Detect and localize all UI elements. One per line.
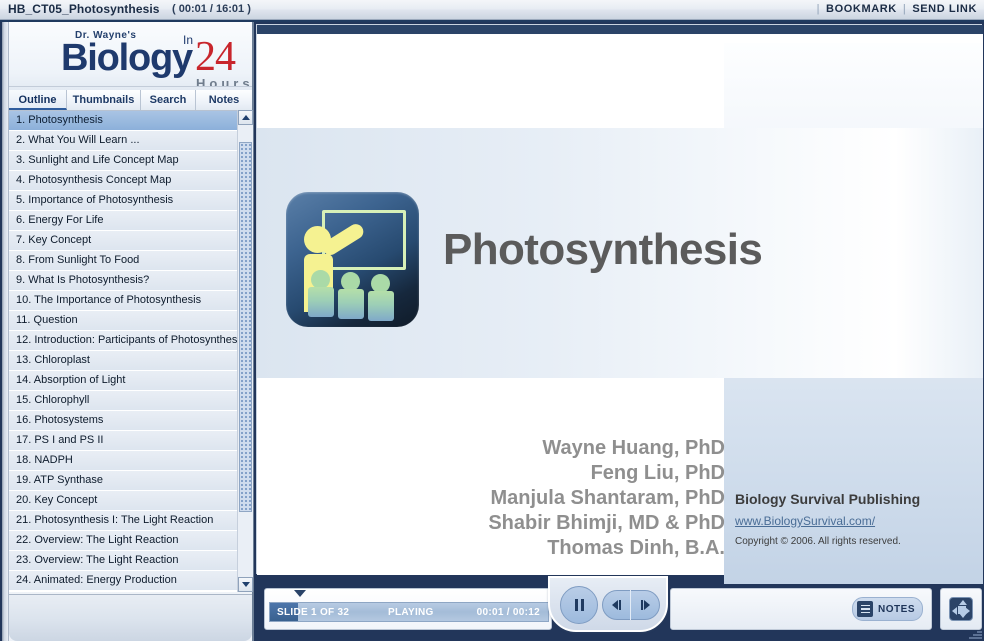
outline-item[interactable]: 12. Introduction: Participants of Photos… bbox=[9, 331, 237, 351]
notes-button[interactable]: NOTES bbox=[852, 597, 923, 621]
slide-counter-label: SLIDE 1 OF 32 bbox=[277, 603, 349, 622]
scroll-up-button[interactable] bbox=[238, 110, 253, 125]
transport-controls bbox=[548, 576, 668, 632]
resize-grip[interactable] bbox=[968, 627, 982, 639]
left-panel-footer bbox=[9, 594, 252, 641]
presentation-title: HB_CT05_Photosynthesis bbox=[8, 2, 160, 16]
author-name: Feng Liu, PhD bbox=[285, 461, 725, 486]
student-body-icon-2 bbox=[338, 289, 364, 319]
author-name: Manjula Shantaram, PhD bbox=[285, 486, 725, 511]
copyright-notice: Copyright © 2006. All rights reserved. bbox=[735, 536, 975, 547]
chevron-down-icon bbox=[242, 582, 250, 587]
outline-item[interactable]: 1. Photosynthesis bbox=[9, 111, 237, 131]
notes-button-label: NOTES bbox=[878, 604, 915, 615]
outline-list: 1. Photosynthesis2. What You Will Learn … bbox=[9, 111, 237, 591]
title-bar-actions: |BOOKMARK|SEND LINK bbox=[811, 3, 977, 15]
progress-panel: SLIDE 1 OF 32 PLAYING 00:01 / 00:12 bbox=[264, 588, 552, 630]
outline-item[interactable]: 22. Overview: The Light Reaction bbox=[9, 531, 237, 551]
slide-canvas: Photosynthesis Wayne Huang, PhDFeng Liu,… bbox=[257, 34, 983, 575]
logo-divider bbox=[9, 86, 252, 87]
left-navigation-panel: Dr. Wayne's Biology In 24 Hours Outline … bbox=[2, 22, 254, 641]
outline-item[interactable]: 11. Question bbox=[9, 311, 237, 331]
panel-edge-gutter bbox=[2, 22, 9, 641]
publisher-name: Biology Survival Publishing bbox=[735, 491, 975, 507]
fullscreen-arrow-left bbox=[952, 607, 957, 615]
outline-item[interactable]: 19. ATP Synthase bbox=[9, 471, 237, 491]
publisher-block: Biology Survival Publishing www.BiologyS… bbox=[735, 491, 975, 547]
outline-item[interactable]: 6. Energy For Life bbox=[9, 211, 237, 231]
tab-outline[interactable]: Outline bbox=[9, 90, 67, 110]
author-name: Wayne Huang, PhD bbox=[285, 436, 725, 461]
outline-item[interactable]: 15. Chlorophyll bbox=[9, 391, 237, 411]
pause-button[interactable] bbox=[560, 586, 598, 624]
progress-marker-icon bbox=[294, 590, 306, 597]
next-icon bbox=[641, 600, 650, 610]
slide-title: Photosynthesis bbox=[443, 225, 762, 275]
fullscreen-panel bbox=[940, 588, 982, 630]
author-name: Thomas Dinh, B.A. bbox=[285, 536, 725, 561]
tab-thumbnails[interactable]: Thumbnails bbox=[67, 90, 141, 110]
biology-in-24-hours-logo: Dr. Wayne's Biology In 24 Hours bbox=[57, 25, 252, 87]
outline-item[interactable]: 24. Animated: Energy Production bbox=[9, 571, 237, 591]
progress-bar[interactable]: SLIDE 1 OF 32 PLAYING 00:01 / 00:12 bbox=[269, 602, 549, 622]
outline-item[interactable]: 14. Absorption of Light bbox=[9, 371, 237, 391]
outline-scrollbar[interactable] bbox=[237, 110, 252, 592]
slide-header-band bbox=[257, 25, 983, 34]
previous-slide-button[interactable] bbox=[603, 590, 631, 620]
publisher-url-link[interactable]: www.BiologySurvival.com/ bbox=[735, 514, 975, 528]
student-body-icon-3 bbox=[368, 291, 394, 321]
fullscreen-arrow-right bbox=[965, 607, 970, 615]
outline-item[interactable]: 13. Chloroplast bbox=[9, 351, 237, 371]
outline-item[interactable]: 18. NADPH bbox=[9, 451, 237, 471]
player-control-bar: SLIDE 1 OF 32 PLAYING 00:01 / 00:12 bbox=[256, 576, 984, 641]
notes-icon bbox=[857, 601, 873, 617]
tab-search[interactable]: Search bbox=[141, 90, 196, 110]
playback-time-label: 00:01 / 00:12 bbox=[477, 603, 540, 622]
outline-item[interactable]: 17. PS I and PS II bbox=[9, 431, 237, 451]
outline-list-viewport: 1. Photosynthesis2. What You Will Learn … bbox=[9, 110, 252, 592]
previous-icon bbox=[612, 600, 621, 610]
outline-item[interactable]: 5. Importance of Photosynthesis bbox=[9, 191, 237, 211]
panel-tabs: Outline Thumbnails Search Notes bbox=[9, 90, 252, 110]
step-buttons-group bbox=[602, 590, 660, 620]
outline-item[interactable]: 23. Overview: The Light Reaction bbox=[9, 551, 237, 571]
outline-item[interactable]: 16. Photosystems bbox=[9, 411, 237, 431]
outline-item[interactable]: 4. Photosynthesis Concept Map bbox=[9, 171, 237, 191]
teacher-presenting-icon bbox=[286, 192, 419, 327]
send-link-button[interactable]: SEND LINK bbox=[912, 3, 977, 15]
right-control-panel: NOTES bbox=[670, 588, 932, 630]
logo-wordmark: Biology bbox=[61, 37, 192, 80]
outline-item[interactable]: 21. Photosynthesis I: The Light Reaction bbox=[9, 511, 237, 531]
outline-item[interactable]: 20. Key Concept bbox=[9, 491, 237, 511]
outline-item[interactable]: 8. From Sunlight To Food bbox=[9, 251, 237, 271]
outline-item[interactable]: 2. What You Will Learn ... bbox=[9, 131, 237, 151]
scrollbar-track[interactable] bbox=[238, 125, 253, 577]
pause-icon bbox=[575, 599, 584, 611]
presentation-player-window: HB_CT05_Photosynthesis ( 00:01 / 16:01 )… bbox=[0, 0, 984, 641]
slide-viewer[interactable]: Photosynthesis Wayne Huang, PhDFeng Liu,… bbox=[256, 24, 982, 574]
logo-in-word: In bbox=[183, 33, 193, 47]
playback-state-label: PLAYING bbox=[388, 603, 434, 622]
slide-author-list: Wayne Huang, PhDFeng Liu, PhDManjula Sha… bbox=[285, 436, 725, 561]
total-timecode: ( 00:01 / 16:01 ) bbox=[172, 3, 251, 15]
brand-logo-area: Dr. Wayne's Biology In 24 Hours bbox=[9, 22, 252, 90]
logo-number-24: 24 bbox=[195, 33, 235, 81]
scroll-down-button[interactable] bbox=[238, 577, 253, 592]
fullscreen-icon[interactable] bbox=[949, 597, 973, 621]
tab-notes[interactable]: Notes bbox=[196, 90, 252, 110]
fullscreen-arrow-up bbox=[959, 600, 967, 605]
outline-item[interactable]: 7. Key Concept bbox=[9, 231, 237, 251]
next-slide-button[interactable] bbox=[631, 590, 659, 620]
link-separator-1: | bbox=[811, 3, 826, 15]
scrollbar-thumb[interactable] bbox=[239, 142, 252, 512]
student-body-icon-1 bbox=[308, 287, 334, 317]
author-name: Shabir Bhimji, MD & PhD bbox=[285, 511, 725, 536]
outline-item[interactable]: 9. What Is Photosynthesis? bbox=[9, 271, 237, 291]
bookmark-button[interactable]: BOOKMARK bbox=[826, 3, 897, 15]
chevron-up-icon bbox=[242, 115, 250, 120]
outline-item[interactable]: 3. Sunlight and Life Concept Map bbox=[9, 151, 237, 171]
outline-item[interactable]: 10. The Importance of Photosynthesis bbox=[9, 291, 237, 311]
link-separator-2: | bbox=[897, 3, 912, 15]
title-bar: HB_CT05_Photosynthesis ( 00:01 / 16:01 )… bbox=[0, 0, 984, 20]
